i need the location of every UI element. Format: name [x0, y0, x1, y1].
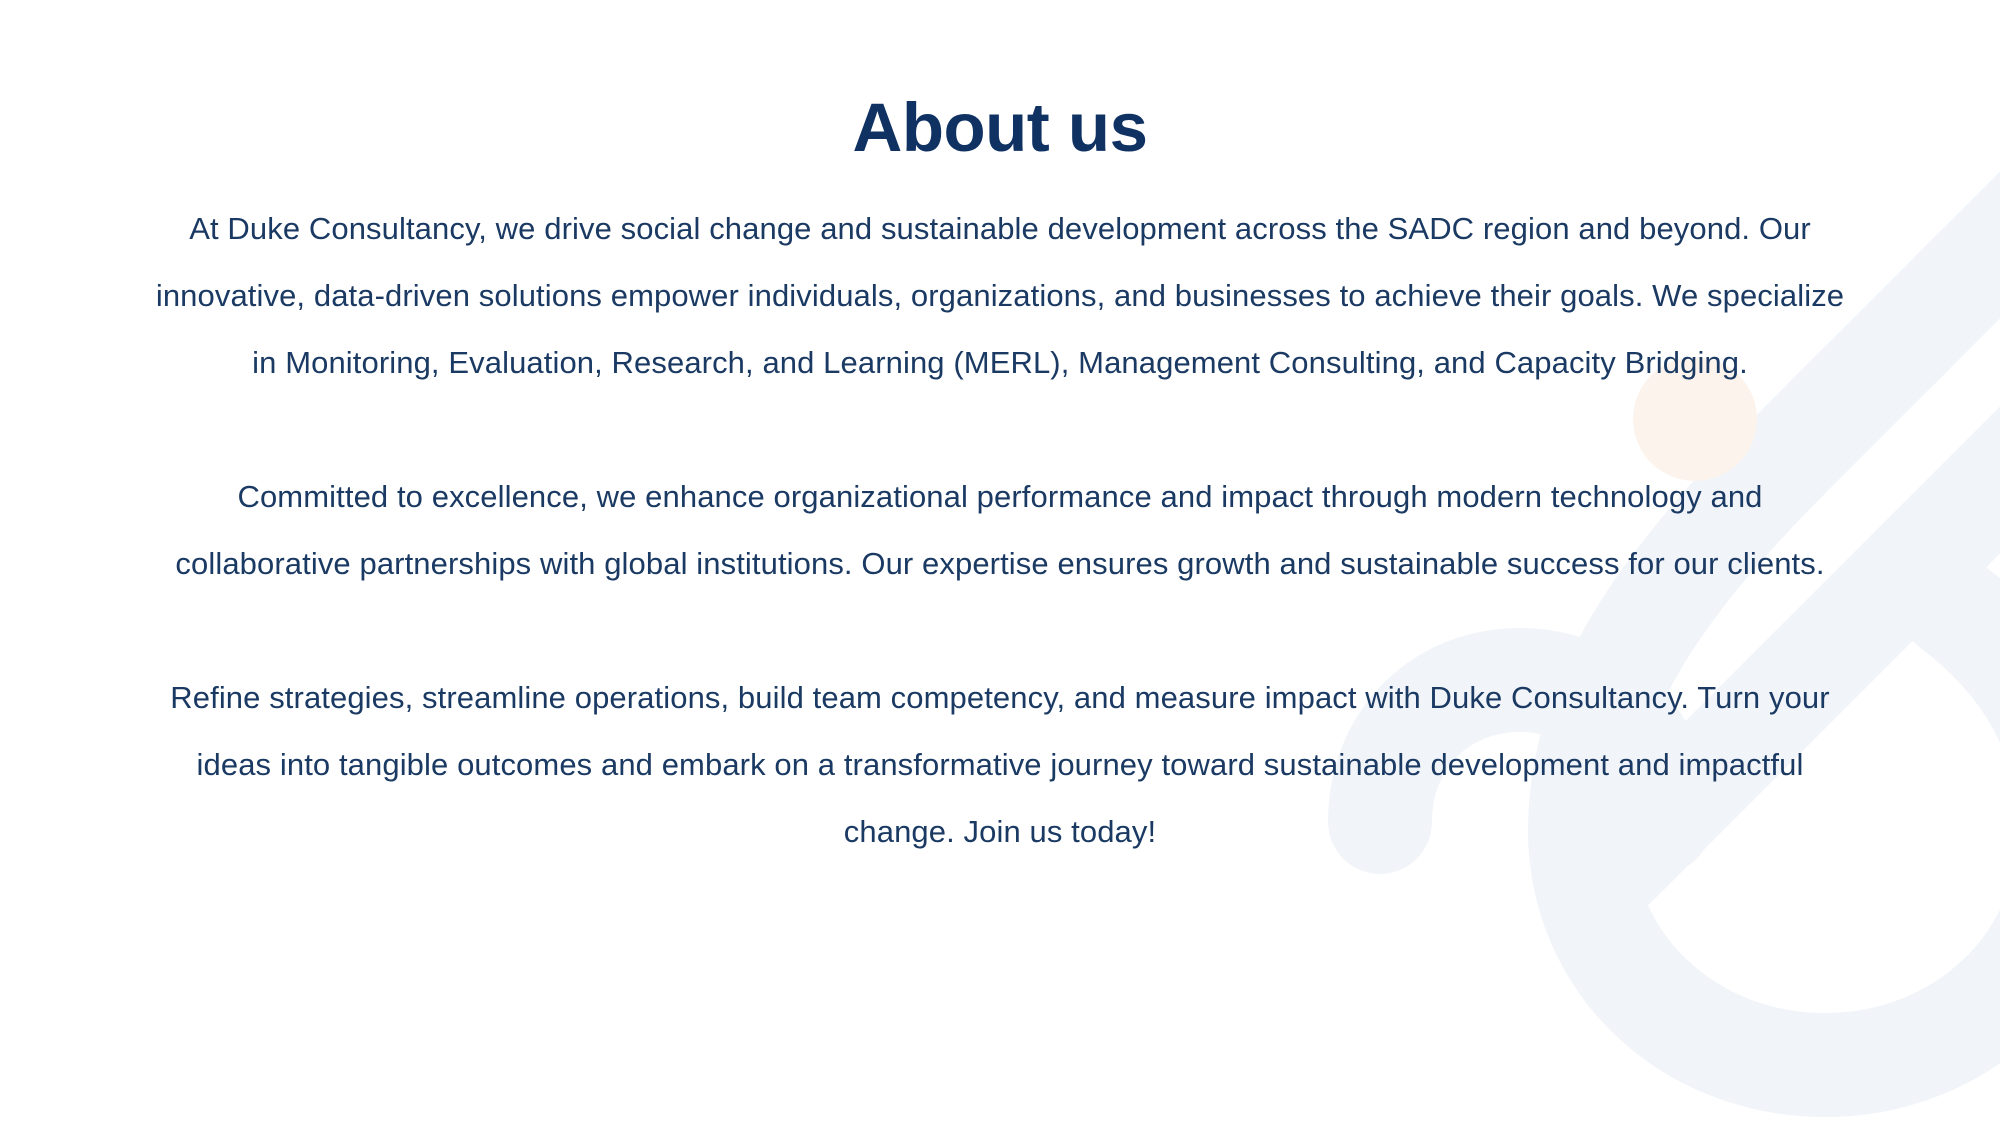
- about-body-text: At Duke Consultancy, we drive social cha…: [150, 195, 1850, 865]
- page-title: About us: [0, 93, 2000, 162]
- about-content: About us At Duke Consultancy, we drive s…: [0, 0, 2000, 1125]
- about-paragraph-2: Committed to excellence, we enhance orga…: [150, 463, 1850, 597]
- about-paragraph-3: Refine strategies, streamline operations…: [150, 664, 1850, 865]
- about-paragraph-1: At Duke Consultancy, we drive social cha…: [150, 195, 1850, 396]
- about-us-section: About us At Duke Consultancy, we drive s…: [0, 0, 2000, 1125]
